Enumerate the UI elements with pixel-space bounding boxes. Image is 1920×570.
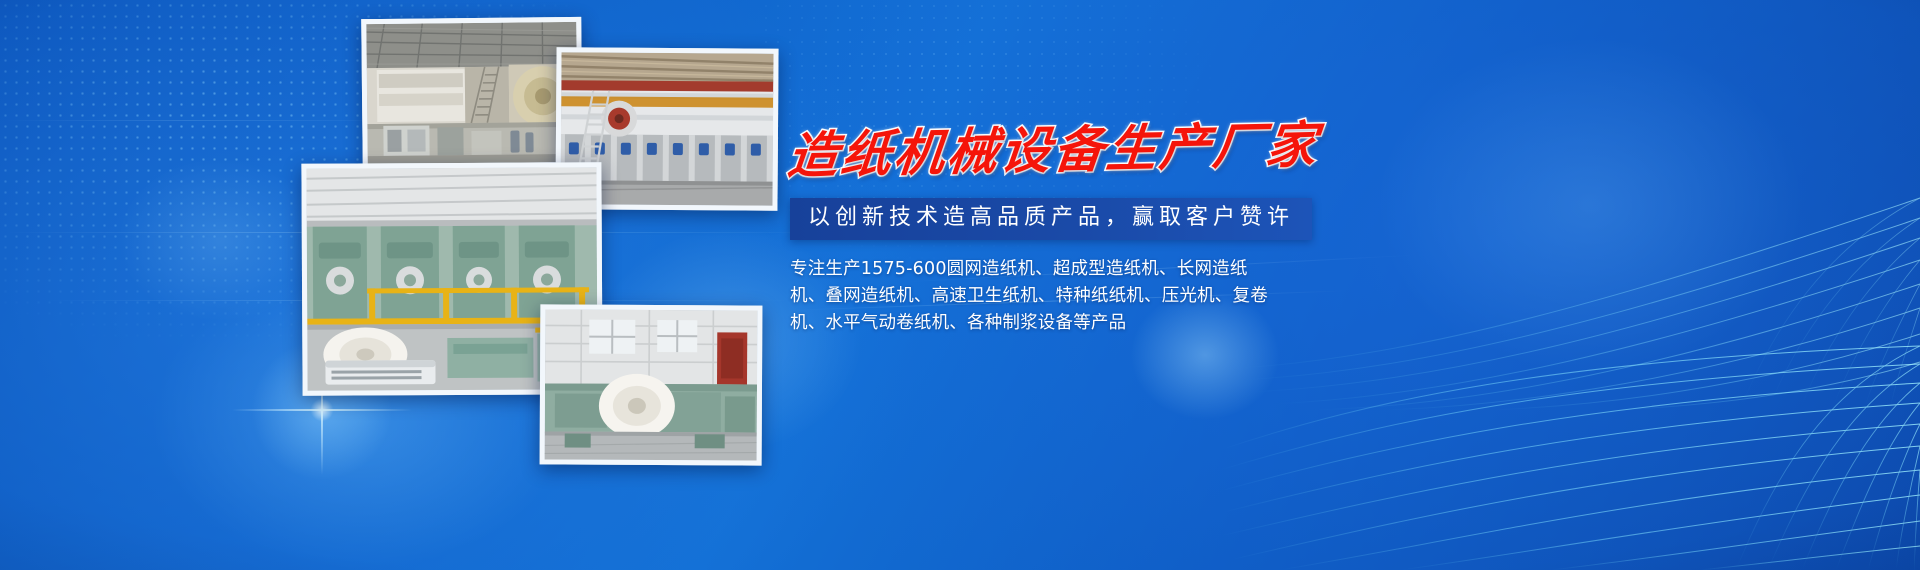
photo-rewinder-workshop-image (545, 309, 758, 460)
photo-paper-mill-hall (361, 17, 583, 169)
photo-collage (0, 0, 800, 570)
banner-subtitle-bar: 以创新技术造高品质产品，赢取客户赞许 (790, 198, 1312, 240)
banner-body-copy: 专注生产1575-600圆网造纸机、超成型造纸机、长网造纸机、叠网造纸机、高速卫… (790, 256, 1282, 337)
photo-paper-mill-hall-image (366, 22, 577, 164)
hero-banner: 造纸机械设备生产厂家 以创新技术造高品质产品，赢取客户赞许 专注生产1575-6… (0, 0, 1920, 570)
banner-headline: 造纸机械设备生产厂家 (784, 108, 1349, 192)
banner-text-block: 造纸机械设备生产厂家 以创新技术造高品质产品，赢取客户赞许 专注生产1575-6… (784, 120, 1344, 337)
banner-subtitle: 以创新技术造高品质产品，赢取客户赞许 (808, 205, 1294, 231)
glow-spot-upper-right (1380, 40, 1800, 370)
photo-rewinder-workshop (540, 304, 763, 465)
